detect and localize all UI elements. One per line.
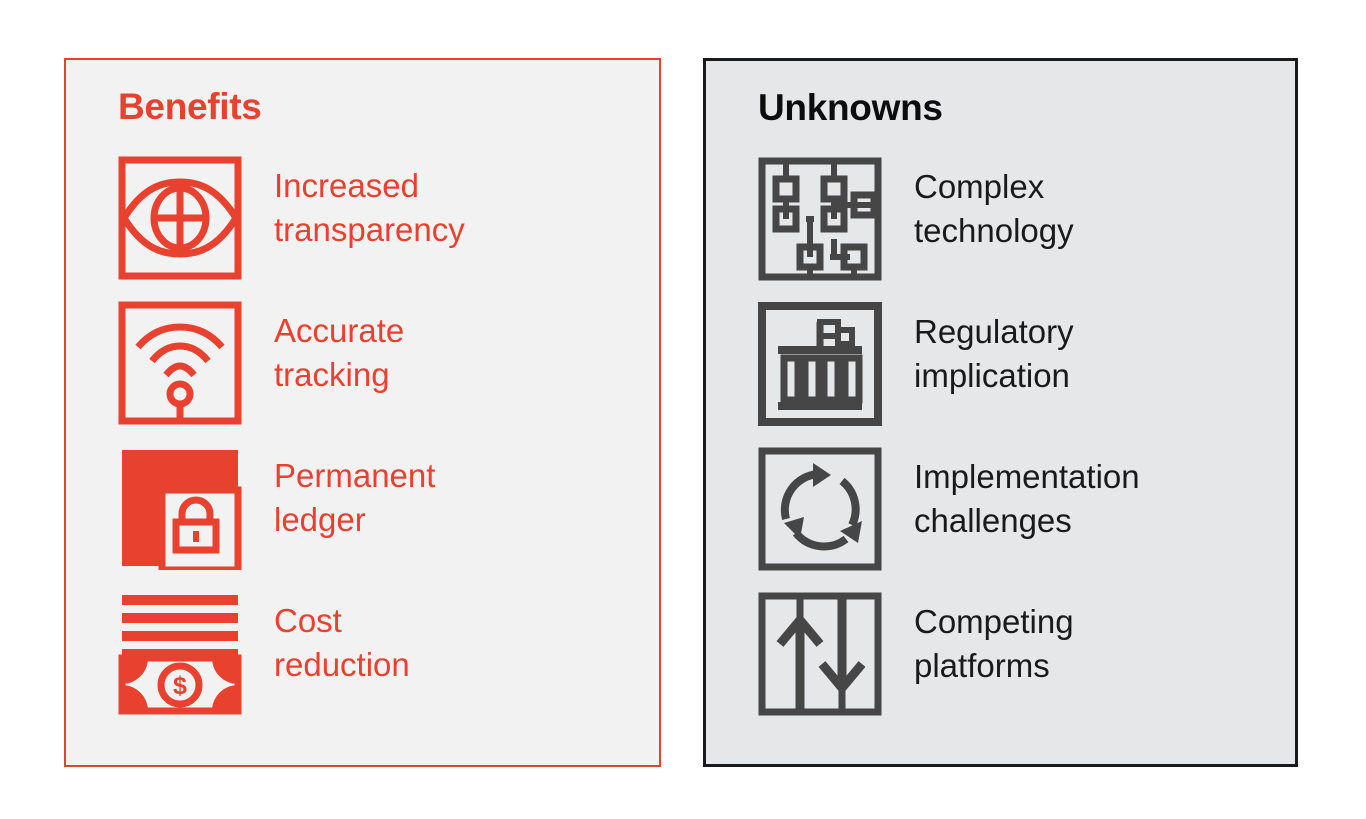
list-item[interactable]: Competing platforms: [758, 592, 1285, 737]
cycle-arrows-icon: [758, 447, 882, 571]
eye-target-icon: [118, 156, 242, 280]
list-item-label: Implementation challenges: [914, 447, 1140, 542]
benefits-panel: Benefits Increased transparency: [64, 58, 661, 767]
unknowns-item-list: Complex technology: [758, 157, 1285, 737]
list-item[interactable]: Increased transparency: [118, 156, 649, 301]
list-item[interactable]: Permanent ledger: [118, 446, 649, 591]
list-item-label: Cost reduction: [274, 591, 410, 686]
list-item-label: Permanent ledger: [274, 446, 435, 541]
unknowns-panel-title: Unknowns: [758, 89, 943, 126]
list-item[interactable]: Regulatory implication: [758, 302, 1285, 447]
list-item-label: Regulatory implication: [914, 302, 1074, 397]
svg-text:$: $: [173, 672, 187, 700]
list-item[interactable]: Implementation challenges: [758, 447, 1285, 592]
list-item-label: Accurate tracking: [274, 301, 404, 396]
comparison-board: Benefits Increased transparency: [0, 0, 1366, 819]
benefits-item-list: Increased transparency Accurate tracking: [118, 156, 649, 736]
government-building-icon: [758, 302, 882, 426]
stacked-pages-lock-icon: [118, 446, 242, 570]
signal-tracking-icon: [118, 301, 242, 425]
list-item-label: Complex technology: [914, 157, 1074, 252]
list-item[interactable]: Complex technology: [758, 157, 1285, 302]
list-item-label: Increased transparency: [274, 156, 465, 251]
up-down-arrows-icon: [758, 592, 882, 716]
unknowns-panel: Unknowns: [703, 58, 1298, 767]
benefits-panel-title: Benefits: [118, 88, 262, 125]
list-item[interactable]: Accurate tracking: [118, 301, 649, 446]
network-nodes-icon: [758, 157, 882, 281]
banknote-stack-icon: $: [118, 591, 242, 715]
list-item[interactable]: $ Cost reduction: [118, 591, 649, 736]
list-item-label: Competing platforms: [914, 592, 1074, 687]
